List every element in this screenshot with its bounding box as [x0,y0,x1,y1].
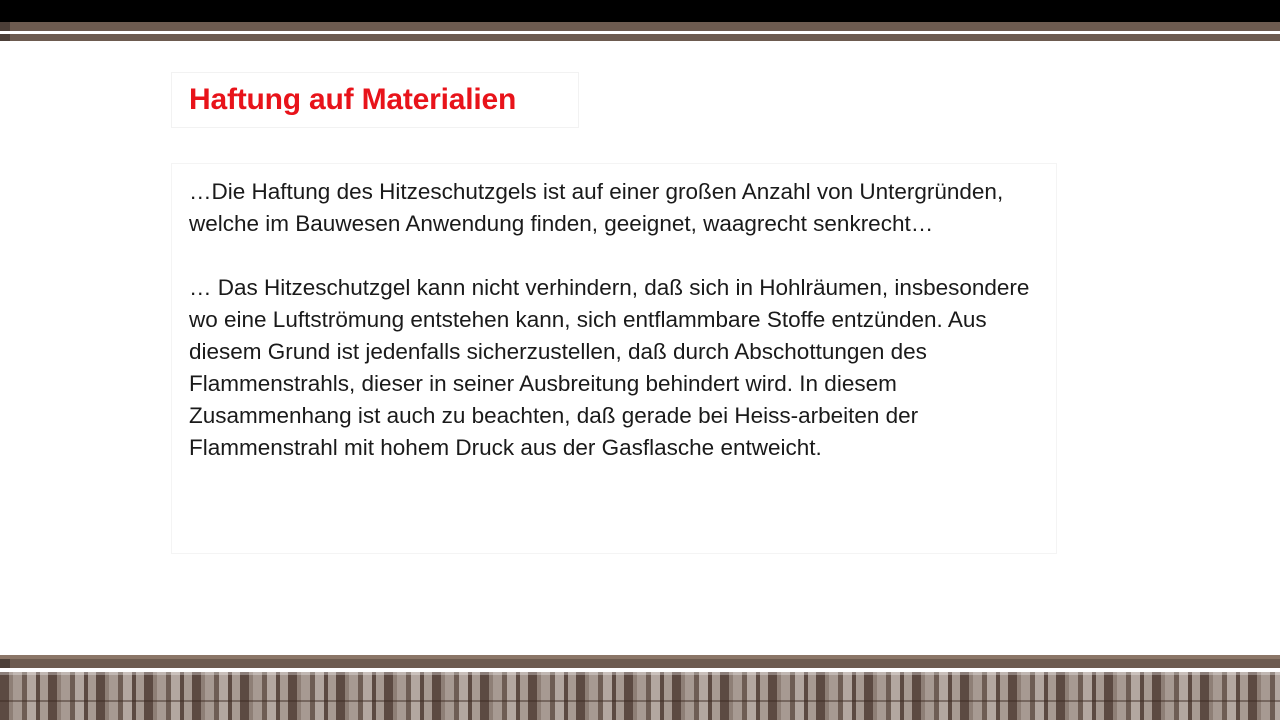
paragraph-spacer [189,240,1042,272]
top-brown-band-upper [0,22,1280,31]
body-paragraph-1: …Die Haftung des Hitzeschutzgels ist auf… [189,176,1042,240]
top-brown-band-lower [0,34,1280,41]
top-left-edge-accent-upper [0,22,10,31]
bottom-striped-band-divider [0,700,1280,702]
bottom-brown-band-lower [0,659,1280,668]
bottom-striped-band-highlight [0,672,1280,675]
title-placeholder: Haftung auf Materialien [171,72,579,128]
bottom-left-edge-accent [0,659,10,668]
body-paragraph-2: … Das Hitzeschutzgel kann nicht verhinde… [189,272,1042,464]
top-left-edge-accent-lower [0,34,10,41]
page-title: Haftung auf Materialien [172,83,516,117]
slide-canvas: Haftung auf Materialien …Die Haftung des… [0,0,1280,720]
bottom-striped-band [0,672,1280,720]
top-black-band [0,0,1280,22]
content-placeholder: …Die Haftung des Hitzeschutzgels ist auf… [171,163,1057,554]
